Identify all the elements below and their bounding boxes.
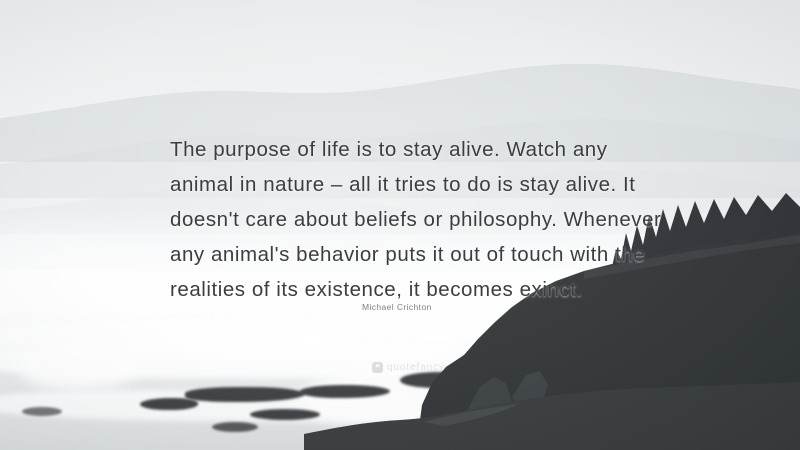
surf-rock [22, 407, 62, 416]
quote-author: Michael Crichton [362, 302, 432, 312]
quote-wallpaper: The purpose of life is to stay alive. Wa… [0, 0, 800, 450]
surf-rock [212, 422, 258, 432]
dark-shore-rocks [304, 378, 800, 450]
watermark-brand-text: quotefancy [387, 362, 445, 373]
sea-spray [170, 324, 350, 354]
quote-text-block: The purpose of life is to stay alive. Wa… [170, 132, 670, 307]
quote-line: The purpose of life is to stay alive. Wa… [170, 132, 670, 167]
sea-spray [18, 344, 138, 390]
quote-line: doesn't care about beliefs or philosophy… [170, 202, 670, 237]
surf-rock [140, 398, 198, 410]
quote-line: any animal's behavior puts it out of tou… [170, 237, 670, 272]
quote-line: animal in nature – all it tries to do is… [170, 167, 670, 202]
watermark: ❝ quotefancy [372, 362, 445, 373]
quote-mark-badge-icon: ❝ [372, 362, 383, 373]
